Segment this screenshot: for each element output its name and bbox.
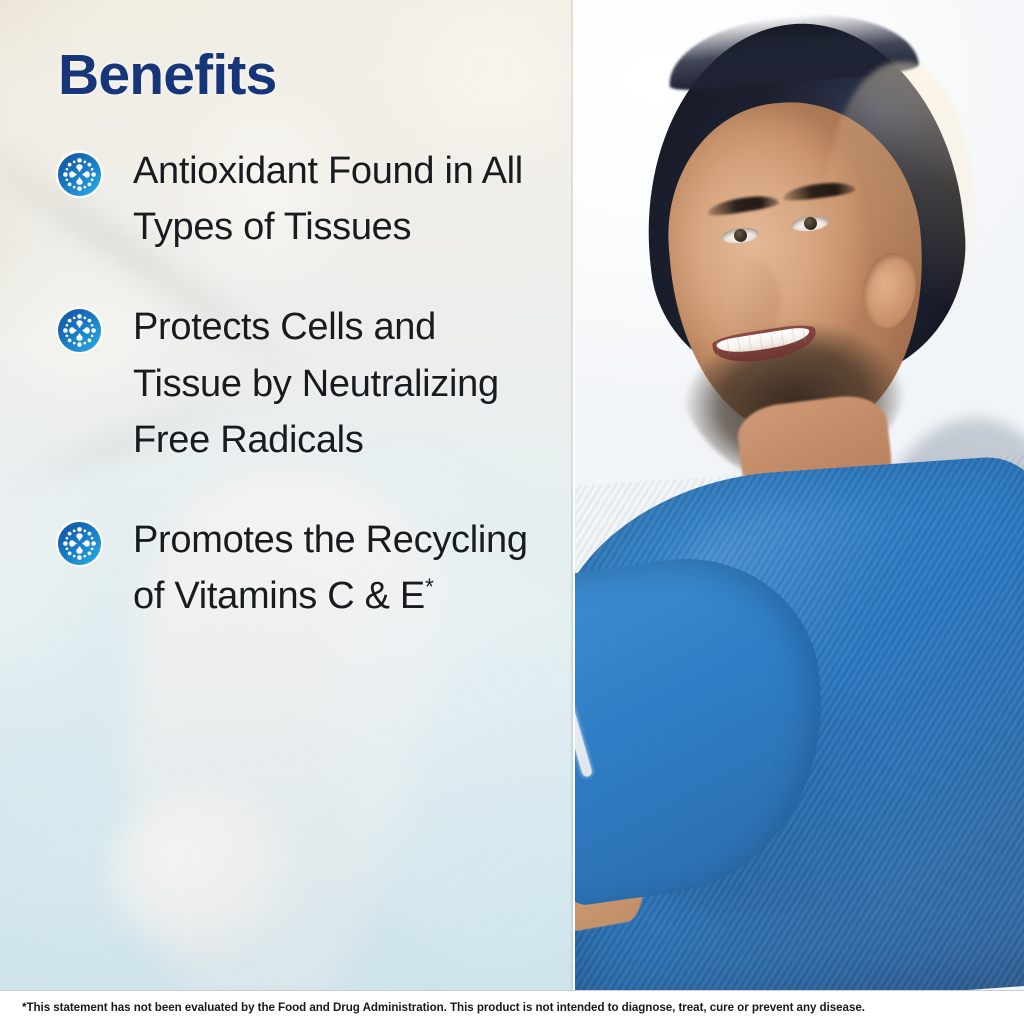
lifestyle-photo — [575, 0, 1024, 990]
benefit-text: Antioxidant Found in All Types of Tissue… — [133, 143, 549, 255]
benefit-asterisk: * — [425, 574, 434, 600]
disclaimer-footer: *This statement has not been evaluated b… — [0, 990, 1024, 1024]
benefit-list: Antioxidant Found in All Types of Tissue… — [58, 143, 549, 625]
product-benefits-infographic: Benefits — [0, 0, 1024, 1024]
benefits-content: Benefits — [0, 0, 573, 990]
molecule-icon — [58, 309, 101, 352]
benefit-list-item: Promotes the Recycling of Vitamins C & E… — [58, 512, 549, 624]
benefit-text: Protects Cells and Tissue by Neutralizin… — [133, 299, 549, 468]
benefits-panel: Benefits — [0, 0, 573, 990]
molecule-icon — [58, 522, 101, 565]
benefit-text: Promotes the Recycling of Vitamins C & E… — [133, 512, 549, 624]
benefit-label: Promotes the Recycling of Vitamins C & E — [133, 519, 528, 617]
benefit-label: Antioxidant Found in All Types of Tissue… — [133, 150, 523, 248]
molecule-icon — [58, 153, 101, 196]
benefit-list-item: Antioxidant Found in All Types of Tissue… — [58, 143, 549, 255]
disclaimer-text: *This statement has not been evaluated b… — [22, 1001, 865, 1014]
benefit-label: Protects Cells and Tissue by Neutralizin… — [133, 306, 499, 460]
page-title: Benefits — [58, 46, 549, 106]
benefit-list-item: Protects Cells and Tissue by Neutralizin… — [58, 299, 549, 468]
